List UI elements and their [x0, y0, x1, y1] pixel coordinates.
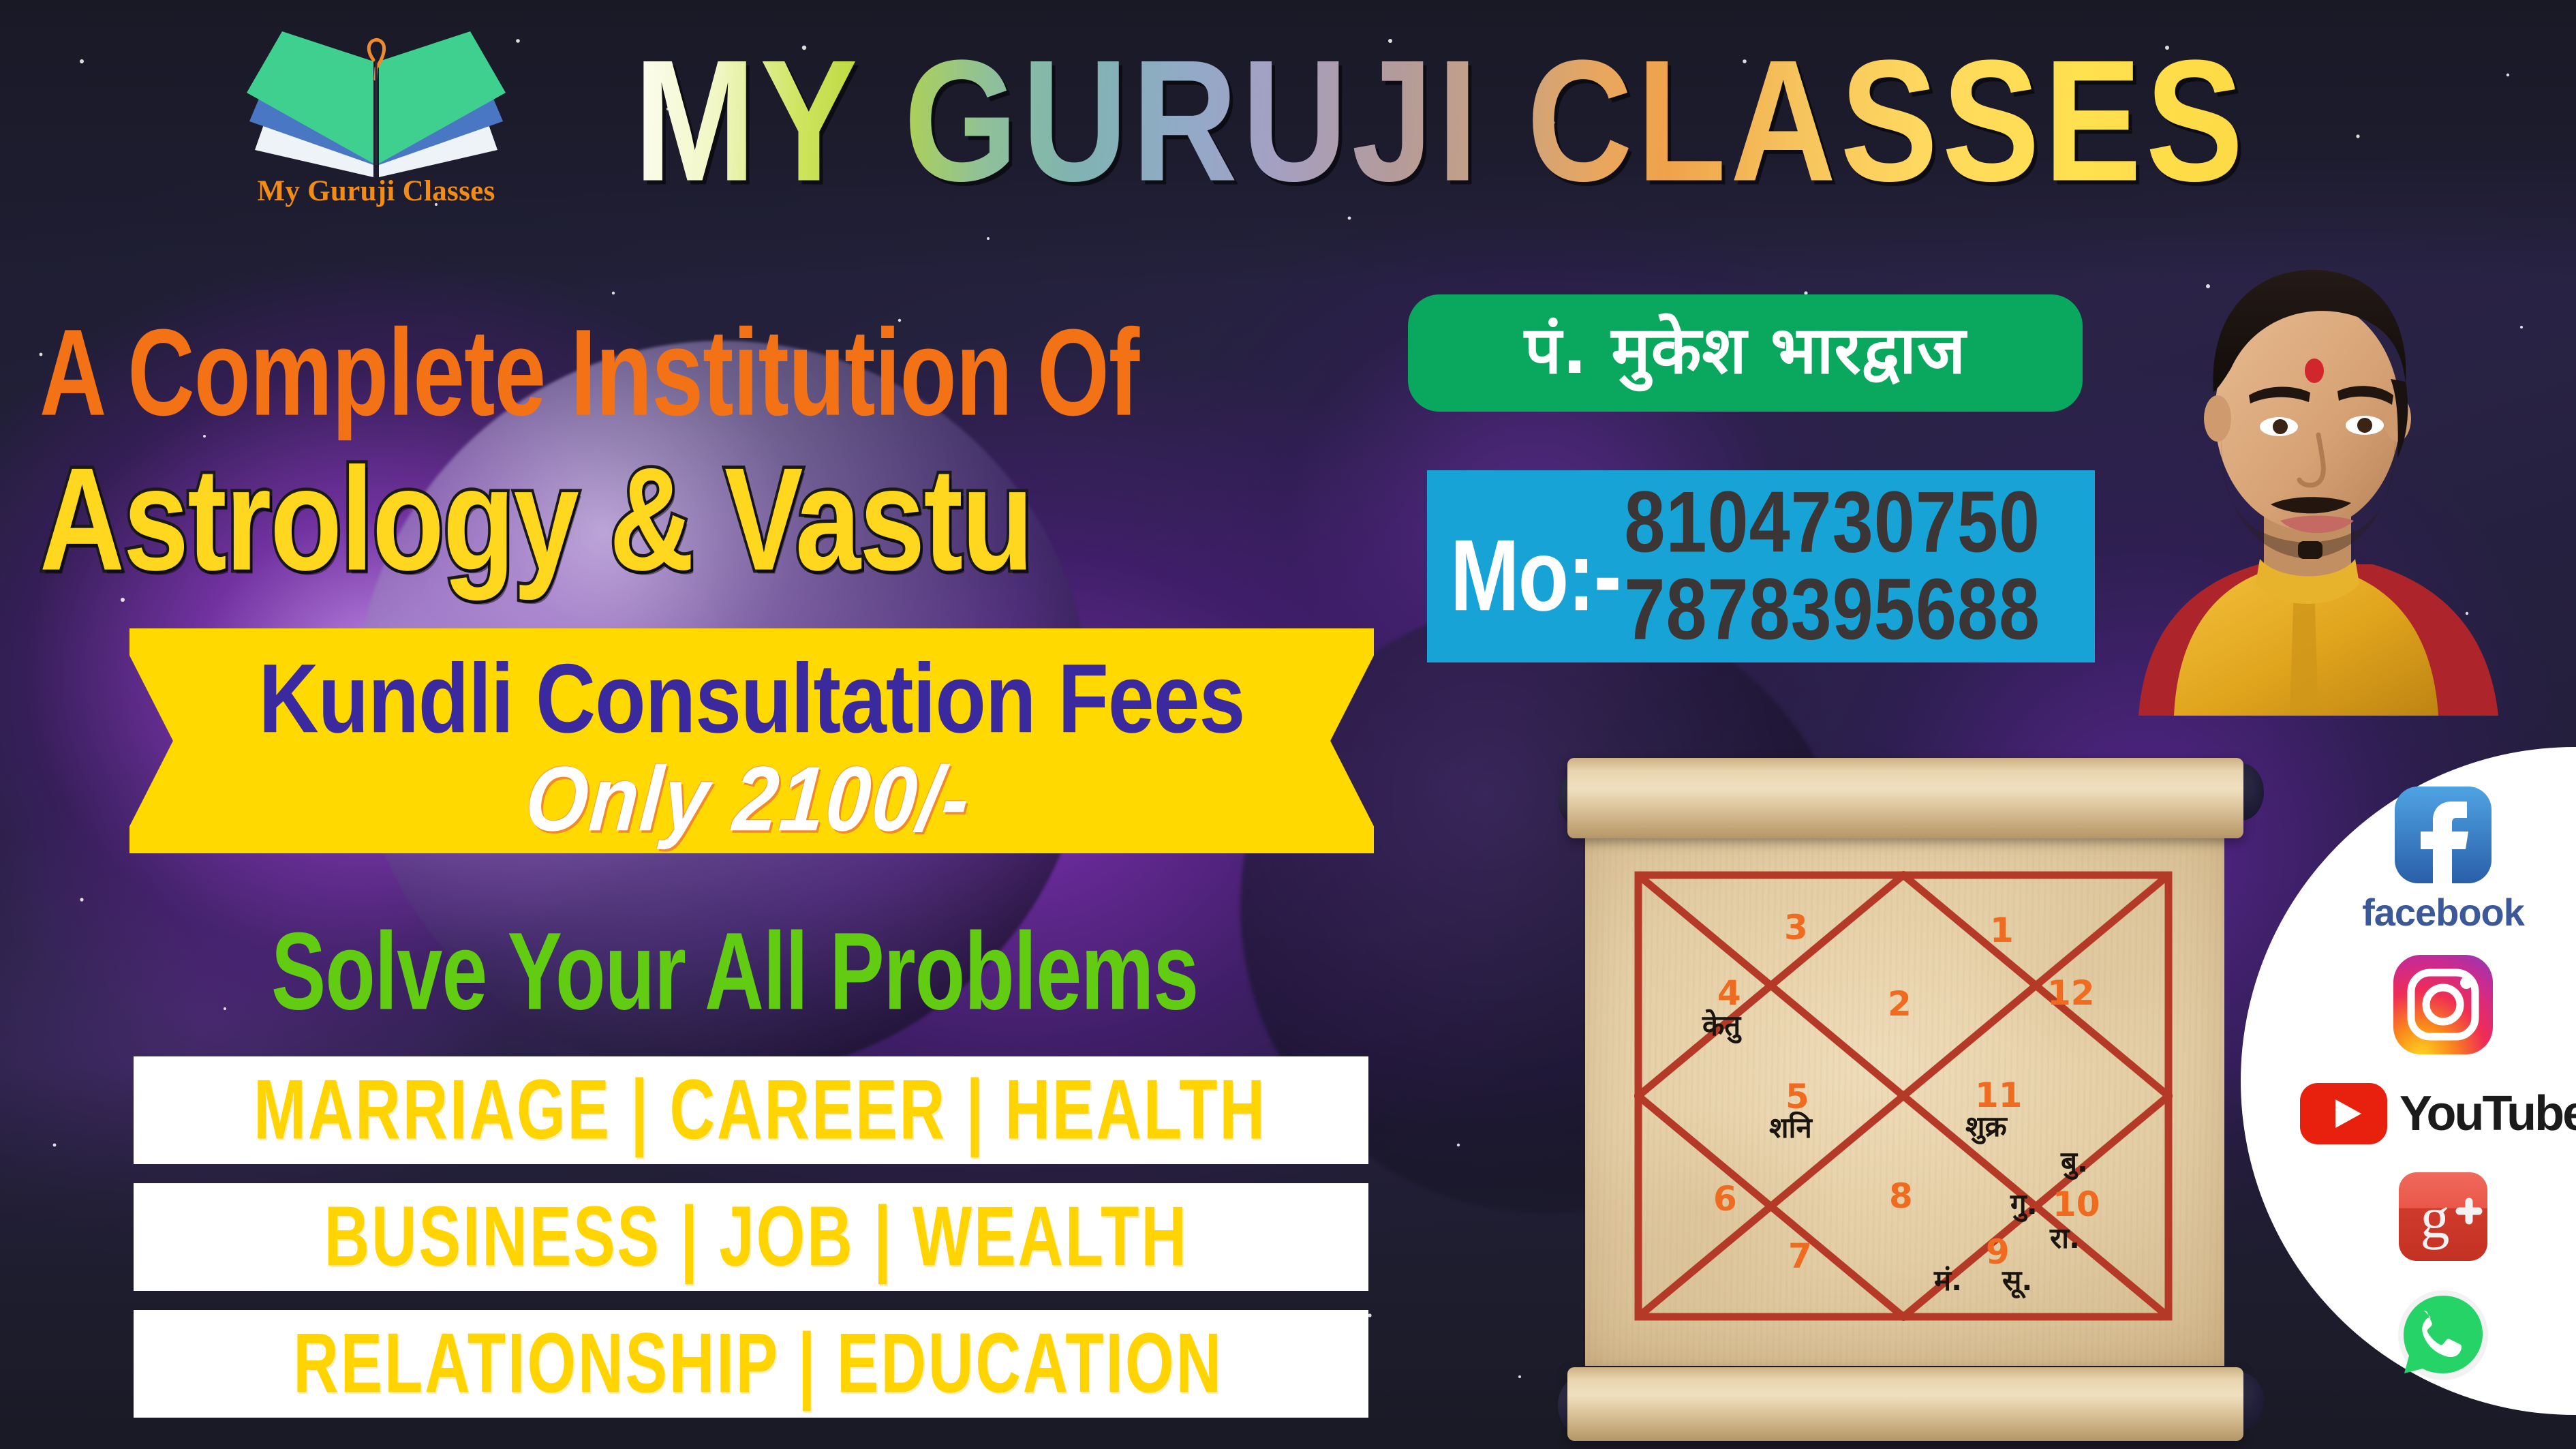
service-bar-row-3: RELATIONSHIP | EDUCATION	[134, 1310, 1368, 1418]
service-row-3-text: RELATIONSHIP | EDUCATION	[158, 1317, 1344, 1409]
kundli-house-7: 7	[1788, 1239, 1812, 1273]
offer-title: Kundli Consultation Fees	[129, 646, 1374, 750]
kundli-house-11: 11	[1975, 1078, 2023, 1112]
instagram-icon	[2391, 952, 2496, 1057]
kundli-planet-shukra: शुक्र	[1965, 1112, 2007, 1141]
headline-text: A Complete Institution Of	[40, 307, 1139, 440]
instagram-link[interactable]	[2391, 952, 2496, 1057]
youtube-label: YouTube	[2399, 1086, 2576, 1142]
facebook-icon	[2392, 784, 2494, 886]
mobile-label: Mo:-	[1450, 525, 1620, 626]
googleplus-icon: g	[2395, 1169, 2491, 1264]
kundli-house-4: 4	[1717, 976, 1741, 1010]
social-icons-column: facebook YouTube	[2310, 784, 2576, 1383]
facebook-label: facebook	[2362, 890, 2524, 934]
promotional-banner: My Guruji Classes MY GURUJI CLASSES A Co…	[0, 0, 2576, 1449]
service-row-2-text: BUSINESS | JOB | WEALTH	[158, 1191, 1344, 1283]
contact-box[interactable]: Mo:- 8104730750 7878395688	[1427, 470, 2095, 662]
svg-text:g: g	[2421, 1185, 2450, 1250]
page-title: MY GURUJI CLASSES	[634, 26, 2331, 219]
kundli-chart: 1 2 3 4 5 6 7 8 9 10 11 12 केतु शनि शुक्…	[1634, 871, 2173, 1321]
offer-banner: Kundli Consultation Fees Only 2100/-	[129, 628, 1374, 853]
kundli-planet-shani: शनि	[1769, 1114, 1812, 1142]
tagline-text: Solve Your All Problems	[271, 912, 1198, 1032]
brand-logo-text: My Guruji Classes	[240, 174, 512, 208]
scroll-roll-top	[1567, 758, 2243, 838]
youtube-link[interactable]: YouTube	[2299, 1082, 2576, 1146]
phone-number-secondary[interactable]: 7878395688	[1624, 558, 2040, 660]
kundli-planet-guru: गु.	[2010, 1190, 2038, 1219]
kundli-house-1: 1	[1990, 913, 2014, 947]
kundli-scroll: 1 2 3 4 5 6 7 8 9 10 11 12 केतु शनि शुक्…	[1562, 740, 2252, 1449]
service-bar-row-1: MARRIAGE | CAREER | HEALTH	[134, 1056, 1368, 1164]
kundli-planet-surya: सू.	[2002, 1266, 2032, 1295]
kundli-house-5: 5	[1785, 1080, 1809, 1114]
service-row-1-text: MARRIAGE | CAREER | HEALTH	[158, 1064, 1344, 1156]
kundli-planet-budh: बु.	[2061, 1148, 2088, 1176]
astrologer-name-badge: पं. मुकेश भारद्वाज	[1408, 294, 2083, 412]
subtitle-text: Astrology & Vastu	[40, 442, 1032, 596]
kundli-house-10: 10	[2053, 1187, 2100, 1221]
brand-logo: My Guruji Classes	[240, 14, 512, 218]
whatsapp-link[interactable]	[2395, 1287, 2491, 1383]
kundli-planet-mangal: मं.	[1934, 1266, 1962, 1295]
kundli-house-6: 6	[1713, 1182, 1737, 1216]
astrologer-name-text: पं. मुकेश भारद्वाज	[1524, 316, 1966, 385]
whatsapp-icon	[2395, 1287, 2491, 1383]
service-bar-row-2: BUSINESS | JOB | WEALTH	[134, 1183, 1368, 1291]
kundli-chart-lines	[1634, 871, 2173, 1321]
googleplus-link[interactable]: g	[2395, 1169, 2491, 1264]
kundli-planet-ketu: केतु	[1702, 1011, 1741, 1040]
kundli-house-12: 12	[2047, 976, 2095, 1010]
kundli-planet-rahu: रा.	[2050, 1224, 2080, 1253]
facebook-link[interactable]: facebook	[2362, 784, 2524, 934]
kundli-house-8: 8	[1889, 1179, 1913, 1213]
astrologer-photo	[2098, 210, 2534, 716]
open-book-icon	[240, 19, 512, 183]
offer-amount: Only 2100/-	[122, 751, 1374, 847]
youtube-icon	[2299, 1082, 2389, 1146]
kundli-house-2: 2	[1888, 987, 1912, 1021]
scroll-roll-bottom	[1567, 1367, 2243, 1441]
kundli-house-3: 3	[1784, 911, 1808, 945]
